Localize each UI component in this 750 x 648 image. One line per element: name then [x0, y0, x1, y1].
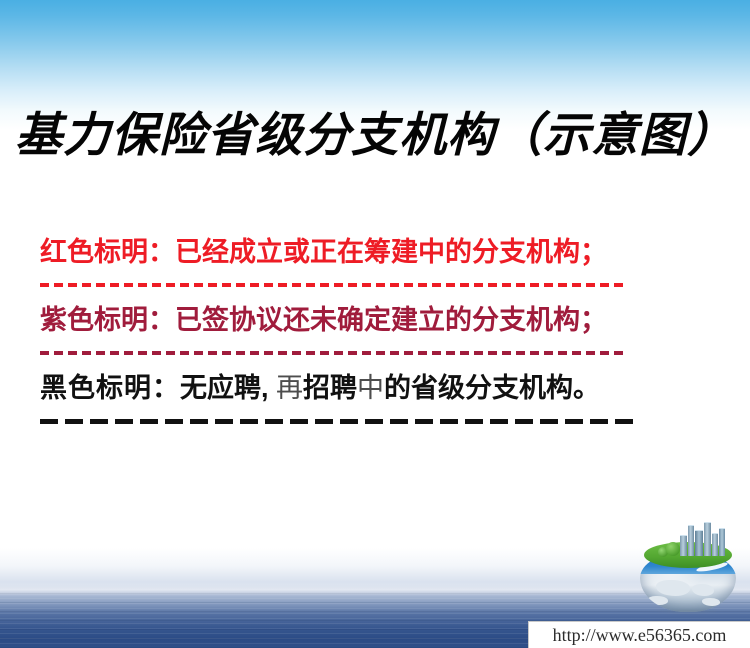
divider-red: [40, 278, 625, 292]
slide-canvas: 基力保险省级分支机构（示意图） 红色标明：已经成立或正在筹建中的分支机构； 紫色…: [0, 0, 750, 648]
url-watermark: http://www.e56365.com: [528, 621, 750, 648]
building-icon: [680, 535, 687, 556]
globe-landmass-icon: [702, 598, 720, 606]
legend-row-purple: 紫色标明：已签协议还未确定建立的分支机构；: [40, 300, 700, 360]
divider-purple: [40, 346, 625, 360]
building-icon: [712, 533, 718, 556]
legend-row-black: 黑色标明：无应聘, 再招聘中的省级分支机构。: [40, 368, 700, 428]
legend-desc-black-2: 招聘: [303, 373, 357, 403]
tree-icon: [666, 542, 680, 556]
legend-desc-black-3: 的省级分支机构。: [384, 373, 600, 403]
legend-desc-black-1: 无应聘: [180, 373, 261, 403]
legend-block: 红色标明：已经成立或正在筹建中的分支机构； 紫色标明：已签协议还未确定建立的分支…: [40, 232, 700, 436]
legend-text-red: 红色标明：已经成立或正在筹建中的分支机构；: [40, 232, 700, 272]
building-icon: [719, 528, 725, 556]
watermark-url-text: http://www.e56365.com: [553, 625, 727, 646]
legend-text-purple: 紫色标明：已签协议还未确定建立的分支机构；: [40, 300, 700, 340]
globe-landmass-icon: [692, 584, 714, 596]
legend-desc-black-sep: ,: [261, 373, 276, 403]
legend-row-red: 红色标明：已经成立或正在筹建中的分支机构；: [40, 232, 700, 292]
legend-desc-black-light-1: 再: [276, 373, 303, 403]
globe-landmass-icon: [656, 580, 690, 596]
legend-text-black: 黑色标明：无应聘, 再招聘中的省级分支机构。: [40, 368, 700, 408]
globe-drop-shadow: [652, 608, 724, 614]
building-icon: [688, 525, 694, 556]
legend-label-black: 黑色标明：: [40, 373, 180, 403]
globe-city-logo: [636, 522, 740, 614]
city-skyline-icon: [680, 522, 726, 556]
building-icon: [695, 530, 703, 556]
divider-black: [40, 414, 640, 428]
building-icon: [704, 522, 711, 556]
page-title: 基力保险省级分支机构（示意图）: [0, 96, 750, 165]
globe-landmass-icon: [648, 596, 668, 605]
legend-desc-black-light-2: 中: [357, 373, 384, 403]
